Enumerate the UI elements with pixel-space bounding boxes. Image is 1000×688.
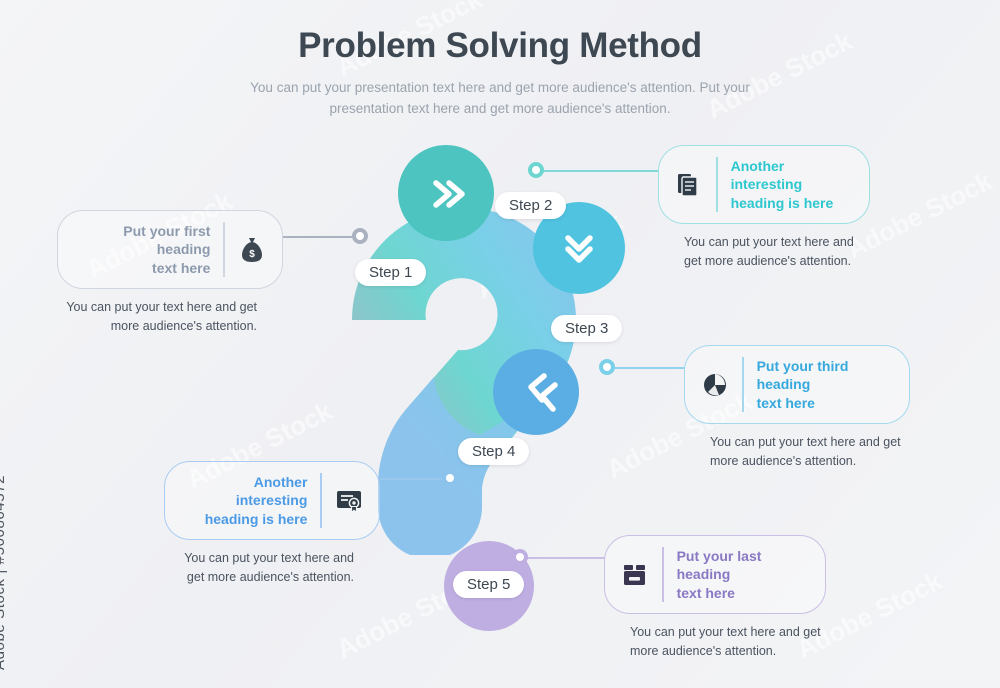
connector-line-3	[613, 367, 685, 369]
callout-1[interactable]: Put your first heading text here $ You c…	[57, 210, 283, 336]
pie-chart-icon	[701, 371, 729, 399]
connector-node-3	[599, 359, 615, 375]
step-pill-1: Step 1	[355, 259, 426, 286]
connector-line-5	[527, 557, 605, 559]
certificate-icon	[335, 487, 363, 515]
step-pill-4: Step 4	[458, 438, 529, 465]
page-subtitle: You can put your presentation text here …	[240, 78, 760, 120]
connector-node-4	[442, 470, 458, 486]
callout-1-heading: Put your first heading text here	[74, 222, 210, 277]
callout-4-heading: Another interesting heading is here	[181, 473, 307, 528]
connector-node-2	[528, 162, 544, 178]
callout-1-body: You can put your text here and get more …	[57, 298, 283, 336]
callout-5-box[interactable]: Put your last heading text here	[604, 535, 826, 614]
page-title: Problem Solving Method	[0, 24, 1000, 68]
svg-text:$: $	[249, 249, 255, 260]
callout-2-divider	[716, 157, 718, 212]
callout-1-divider	[223, 222, 225, 277]
callout-1-box[interactable]: Put your first heading text here $	[57, 210, 283, 289]
connector-node-5	[512, 549, 528, 565]
callout-2-body: You can put your text here and get more …	[658, 233, 870, 271]
callout-3-heading: Put your third heading text here	[757, 357, 893, 412]
callout-4-body: You can put your text here and get more …	[164, 549, 380, 587]
callout-3-box[interactable]: Put your third heading text here	[684, 345, 910, 424]
header: Problem Solving Method You can put your …	[0, 24, 1000, 120]
callout-5-heading: Put your last heading text here	[677, 547, 809, 602]
watermark-side-text: Adobe Stock | #500864572	[0, 475, 8, 670]
callout-3-divider	[742, 357, 744, 412]
callout-3-body: You can put your text here and get more …	[684, 433, 910, 471]
callout-5-divider	[662, 547, 664, 602]
money-bag-icon: $	[238, 236, 266, 264]
callout-4-divider	[320, 473, 322, 528]
documents-icon	[675, 171, 703, 199]
connector-node-1	[352, 228, 368, 244]
step-pill-2: Step 2	[495, 192, 566, 219]
connector-line-1	[283, 236, 355, 238]
connector-line-4	[380, 478, 450, 480]
callout-3[interactable]: Put your third heading text here You can…	[684, 345, 910, 471]
step-pill-3: Step 3	[551, 315, 622, 342]
callout-5[interactable]: Put your last heading text here You can …	[604, 535, 826, 661]
step-pill-5: Step 5	[453, 571, 524, 598]
callout-2[interactable]: Another interesting heading is here You …	[658, 145, 870, 271]
infographic-canvas: Adobe Stock Adobe Stock Adobe Stock Adob…	[0, 0, 1000, 688]
connector-line-2	[543, 170, 659, 172]
callout-4-box[interactable]: Another interesting heading is here	[164, 461, 380, 540]
callout-2-heading: Another interesting heading is here	[731, 157, 853, 212]
callout-4[interactable]: Another interesting heading is here You …	[164, 461, 380, 587]
callout-5-body: You can put your text here and get more …	[604, 623, 826, 661]
callout-2-box[interactable]: Another interesting heading is here	[658, 145, 870, 224]
archive-box-icon	[621, 561, 649, 589]
